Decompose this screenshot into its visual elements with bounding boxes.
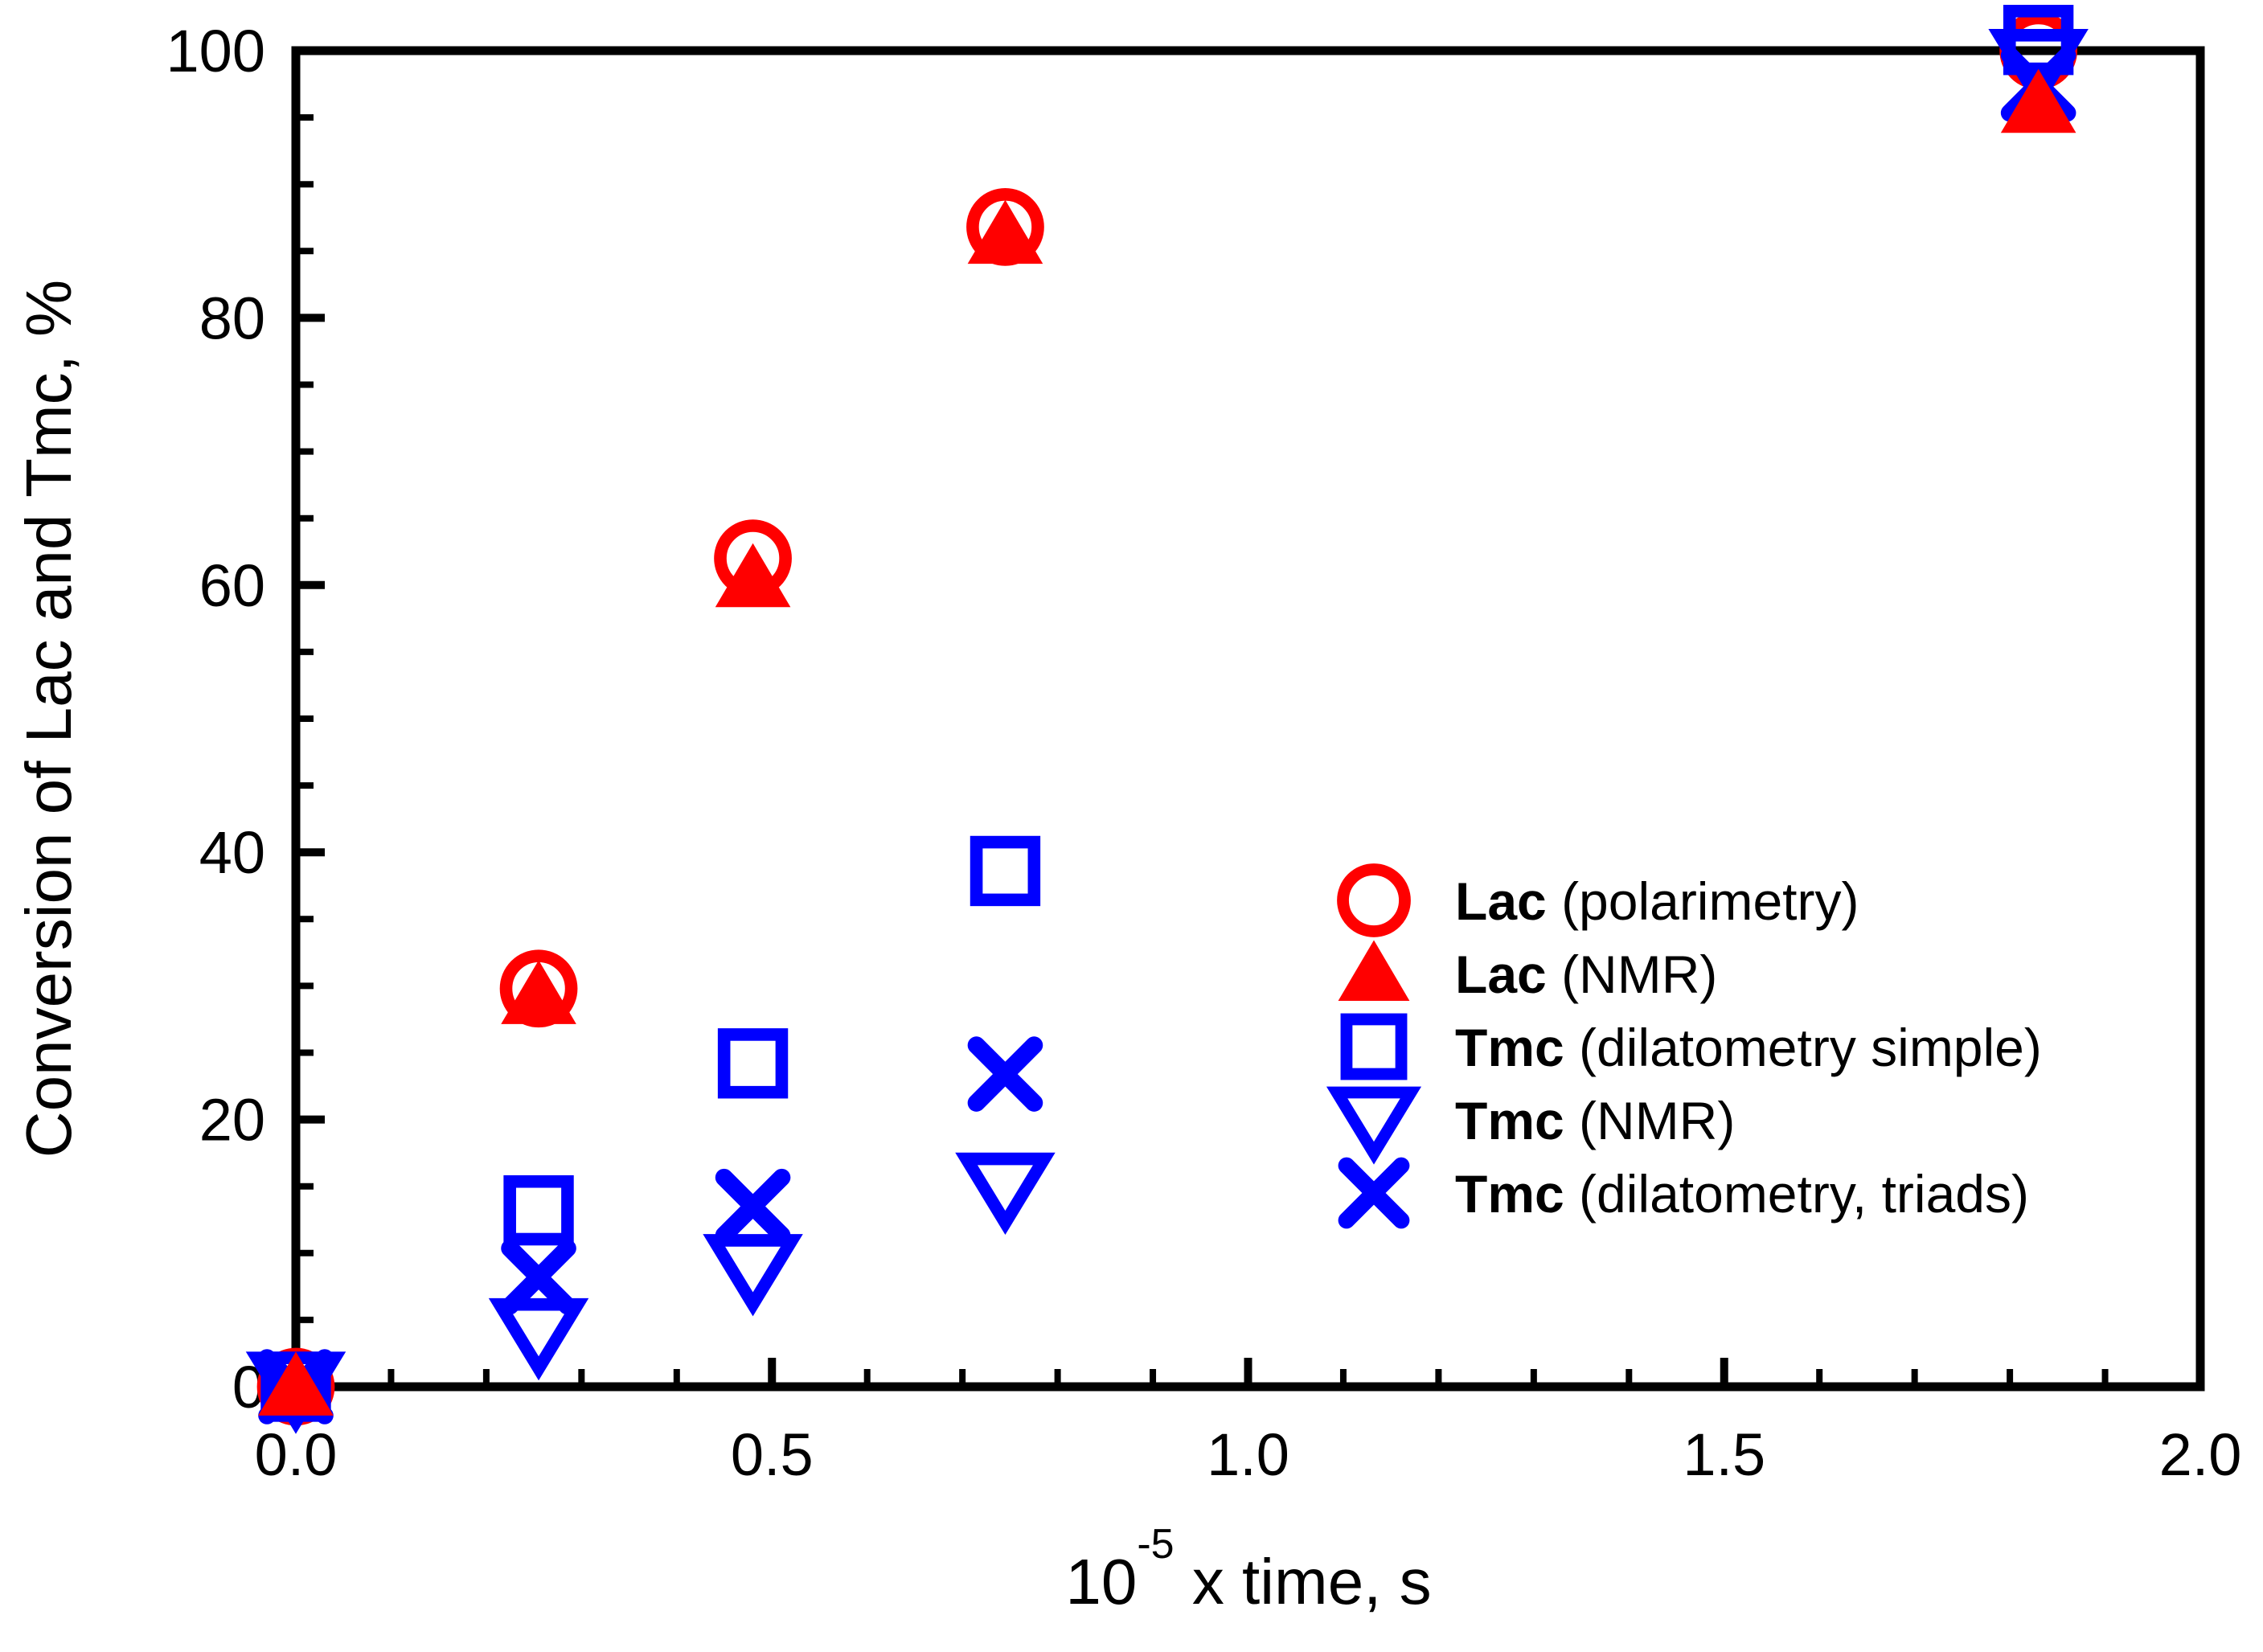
- xtitle-rest: x time, s: [1175, 1546, 1432, 1617]
- legend-label-method: (dilatometry, triads): [1564, 1164, 2029, 1224]
- xtitle-mantissa: 10: [1065, 1546, 1137, 1617]
- legend-label: Tmc (dilatometry, triads): [1455, 1164, 2029, 1224]
- legend-label: Lac (polarimetry): [1455, 871, 1859, 931]
- y-tick-label: 80: [199, 285, 265, 351]
- x-tick-label: 1.5: [1683, 1421, 1765, 1488]
- y-tick-label: 60: [199, 552, 265, 619]
- y-axis-title: Conversion of Lac and Tmc, %: [13, 280, 84, 1158]
- y-tick-label: 20: [199, 1087, 265, 1154]
- legend-label: Tmc (NMR): [1455, 1091, 1735, 1150]
- x-tick-label: 1.0: [1207, 1421, 1289, 1488]
- legend-label-analyte: Tmc: [1455, 1091, 1564, 1150]
- scatter-plot: 0.00.51.01.52.0 020406080100 Lac (polari…: [0, 0, 2263, 1652]
- legend-label-method: (NMR): [1547, 945, 1718, 1004]
- legend-label-analyte: Lac: [1455, 871, 1547, 931]
- legend-label-analyte: Lac: [1455, 945, 1547, 1004]
- plot-background: [0, 0, 2263, 1652]
- legend-label-method: (polarimetry): [1547, 871, 1859, 931]
- legend-label: Tmc (dilatometry simple): [1455, 1018, 2042, 1077]
- legend-label-method: (dilatometry simple): [1564, 1018, 2042, 1077]
- legend-label-analyte: Tmc: [1455, 1018, 1564, 1077]
- xtitle-exponent: -5: [1137, 1521, 1174, 1568]
- y-tick-label: 100: [166, 18, 265, 84]
- chart-figure: 0.00.51.01.52.0 020406080100 Lac (polari…: [0, 0, 2263, 1652]
- x-tick-label: 0.5: [731, 1421, 814, 1488]
- legend-label: Lac (NMR): [1455, 945, 1717, 1004]
- x-tick-label: 2.0: [2159, 1421, 2242, 1488]
- legend-label-method: (NMR): [1564, 1091, 1736, 1150]
- legend-label-analyte: Tmc: [1455, 1164, 1564, 1224]
- y-tick-label: 40: [199, 819, 265, 886]
- svg-text:Conversion of Lac and Tmc, %: Conversion of Lac and Tmc, %: [13, 280, 84, 1158]
